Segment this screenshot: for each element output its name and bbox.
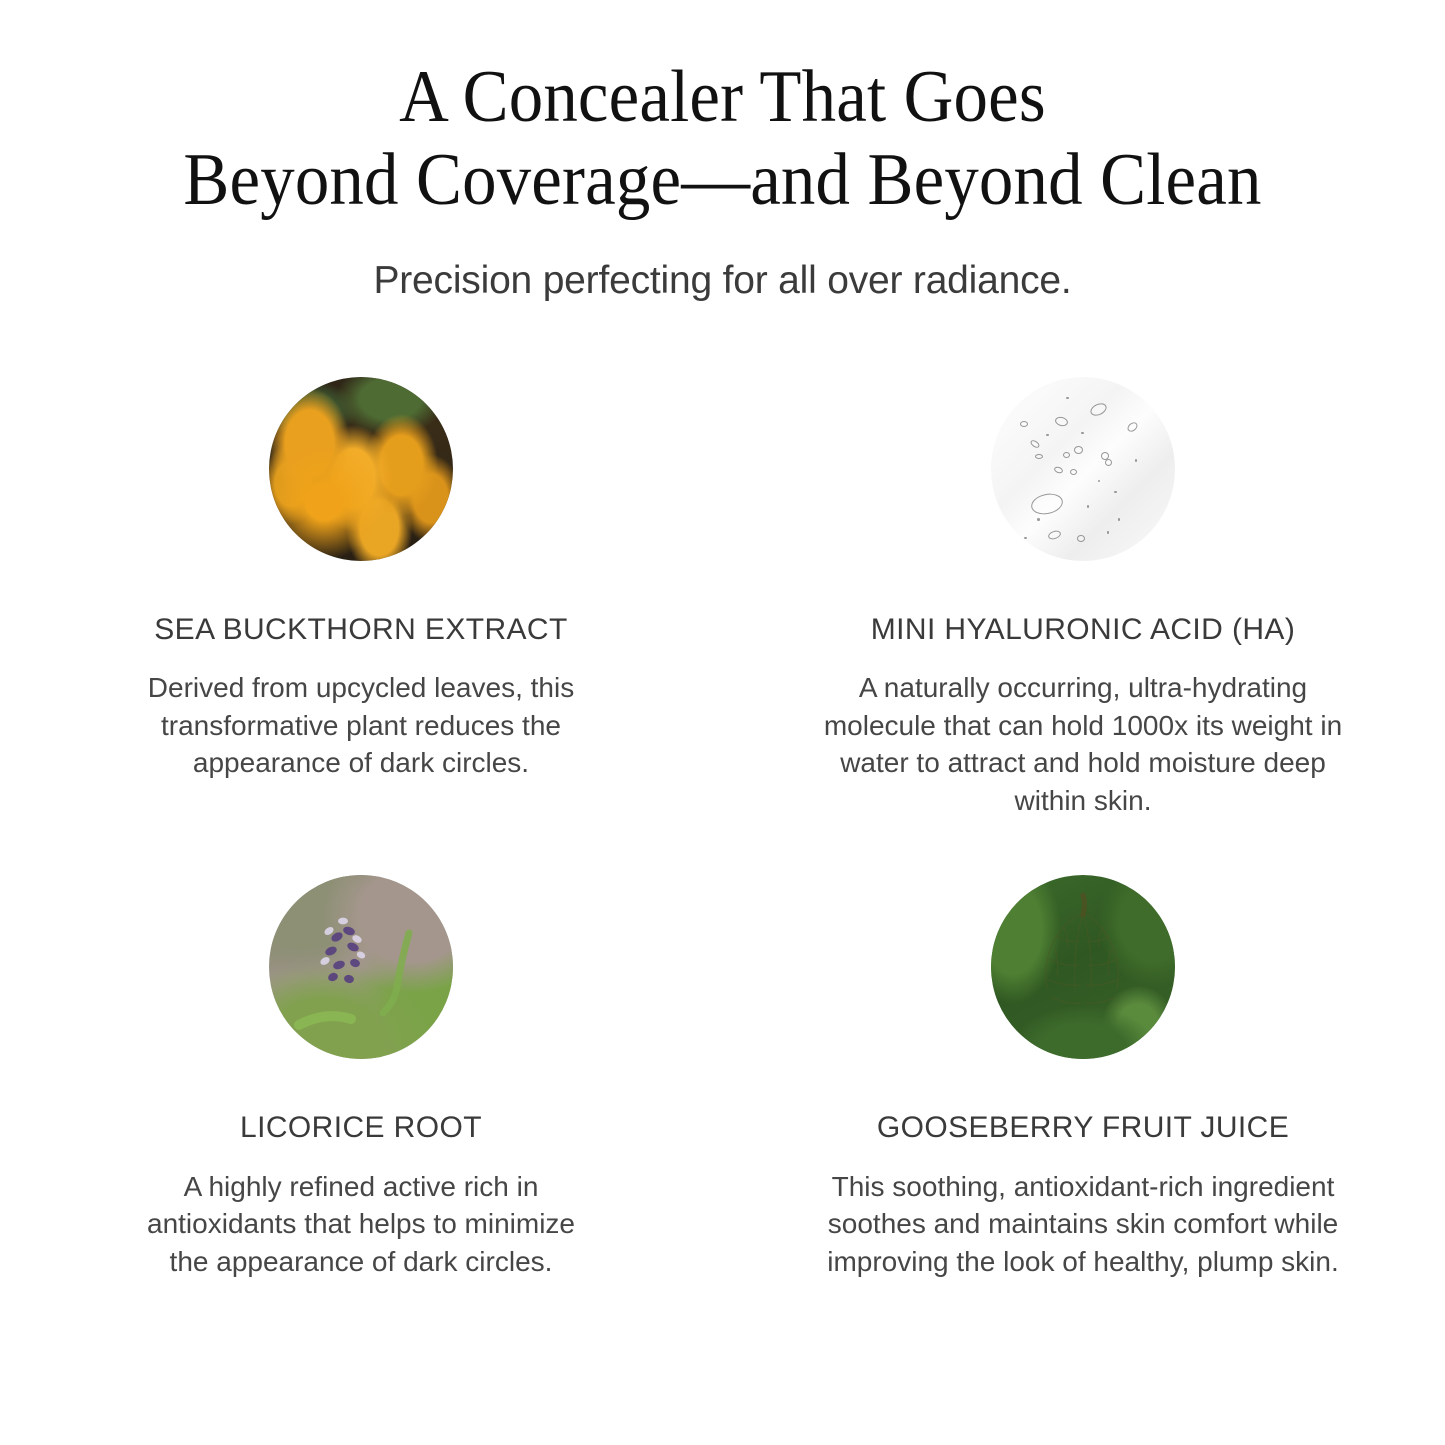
infographic-page: A Concealer That Goes Beyond Coverage—an…: [0, 0, 1445, 1445]
licorice-root-image: [269, 875, 453, 1059]
sea-buckthorn-image: [269, 377, 453, 561]
ingredient-title: LICORICE ROOT: [240, 1111, 482, 1146]
page-title: A Concealer That Goes Beyond Coverage—an…: [51, 56, 1395, 222]
ingredient-title: GOOSEBERRY FRUIT JUICE: [877, 1111, 1289, 1146]
ingredient-title: SEA BUCKTHORN EXTRACT: [154, 613, 567, 648]
husk-vein-detail: [991, 875, 1175, 1059]
licorice-petal-detail: [269, 875, 453, 1059]
ingredient-description: This soothing, antioxidant-rich ingredie…: [803, 1168, 1363, 1281]
hyaluronic-acid-image: [991, 377, 1175, 561]
ingredient-card-gooseberry: GOOSEBERRY FRUIT JUICE This soothing, an…: [722, 875, 1444, 1280]
ingredient-description: Derived from upcycled leaves, this trans…: [126, 669, 596, 782]
ingredient-card-sea-buckthorn: SEA BUCKTHORN EXTRACT Derived from upcyc…: [0, 377, 722, 820]
ingredient-grid: SEA BUCKTHORN EXTRACT Derived from upcyc…: [0, 377, 1445, 1281]
gooseberry-image: [991, 875, 1175, 1059]
page-subtitle: Precision perfecting for all over radian…: [0, 258, 1445, 305]
ingredient-card-hyaluronic-acid: MINI HYALURONIC ACID (HA) A naturally oc…: [722, 377, 1444, 820]
ingredient-description: A highly refined active rich in antioxid…: [126, 1168, 596, 1281]
gel-bubbles-layer: [991, 377, 1175, 561]
ingredient-card-licorice-root: LICORICE ROOT A highly refined active ri…: [0, 875, 722, 1280]
ingredient-description: A naturally occurring, ultra-hydrating m…: [803, 669, 1363, 819]
berry-highlight-layer: [269, 377, 453, 561]
header: A Concealer That Goes Beyond Coverage—an…: [0, 0, 1445, 305]
ingredient-title: MINI HYALURONIC ACID (HA): [871, 613, 1295, 648]
